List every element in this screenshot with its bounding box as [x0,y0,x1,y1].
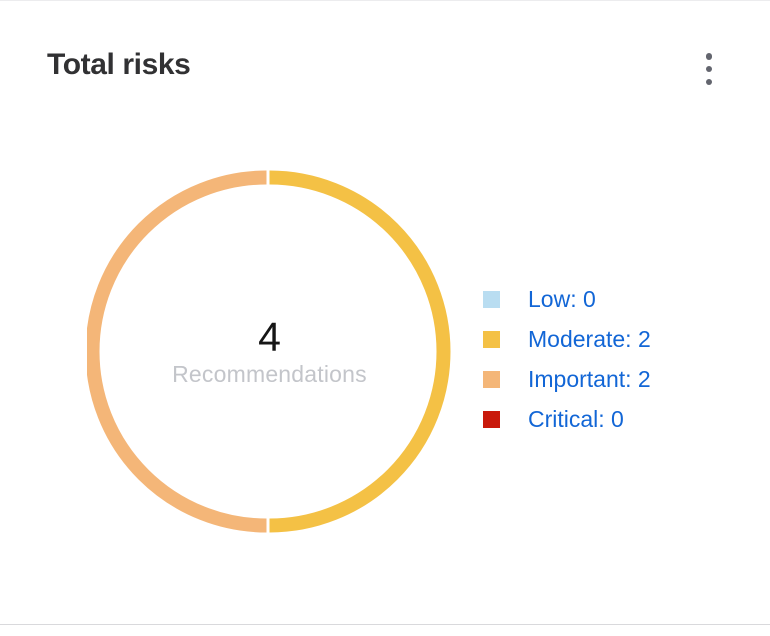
kebab-menu-icon[interactable] [698,51,720,87]
legend-label-moderate: Moderate: 2 [528,326,651,353]
donut-svg [87,169,452,534]
legend-item-moderate[interactable]: Moderate: 2 [483,319,651,359]
page-title: Total risks [47,45,190,85]
legend-item-important[interactable]: Important: 2 [483,359,651,399]
legend-swatch-important-icon [483,371,500,388]
chart-area: 4 Recommendations Low: 0 Moderate: 2 Imp… [0,111,770,581]
kebab-dot-bottom [706,79,713,86]
legend-label-important: Important: 2 [528,366,651,393]
legend-item-critical[interactable]: Critical: 0 [483,399,651,439]
legend-label-critical: Critical: 0 [528,406,624,433]
donut-segment-moderate[interactable] [270,178,444,526]
card-header: Total risks [47,45,723,91]
kebab-dot-top [706,53,713,60]
legend-swatch-low-icon [483,291,500,308]
legend-swatch-moderate-icon [483,331,500,348]
donut-chart: 4 Recommendations [87,169,452,534]
total-risks-card: Total risks 4 Recommendations Low: 0 [0,0,770,636]
legend-label-low: Low: 0 [528,286,596,313]
chart-legend: Low: 0 Moderate: 2 Important: 2 Critical… [483,279,651,439]
donut-segment-important[interactable] [93,178,267,526]
legend-swatch-critical-icon [483,411,500,428]
legend-item-low[interactable]: Low: 0 [483,279,651,319]
kebab-dot-middle [706,66,713,73]
